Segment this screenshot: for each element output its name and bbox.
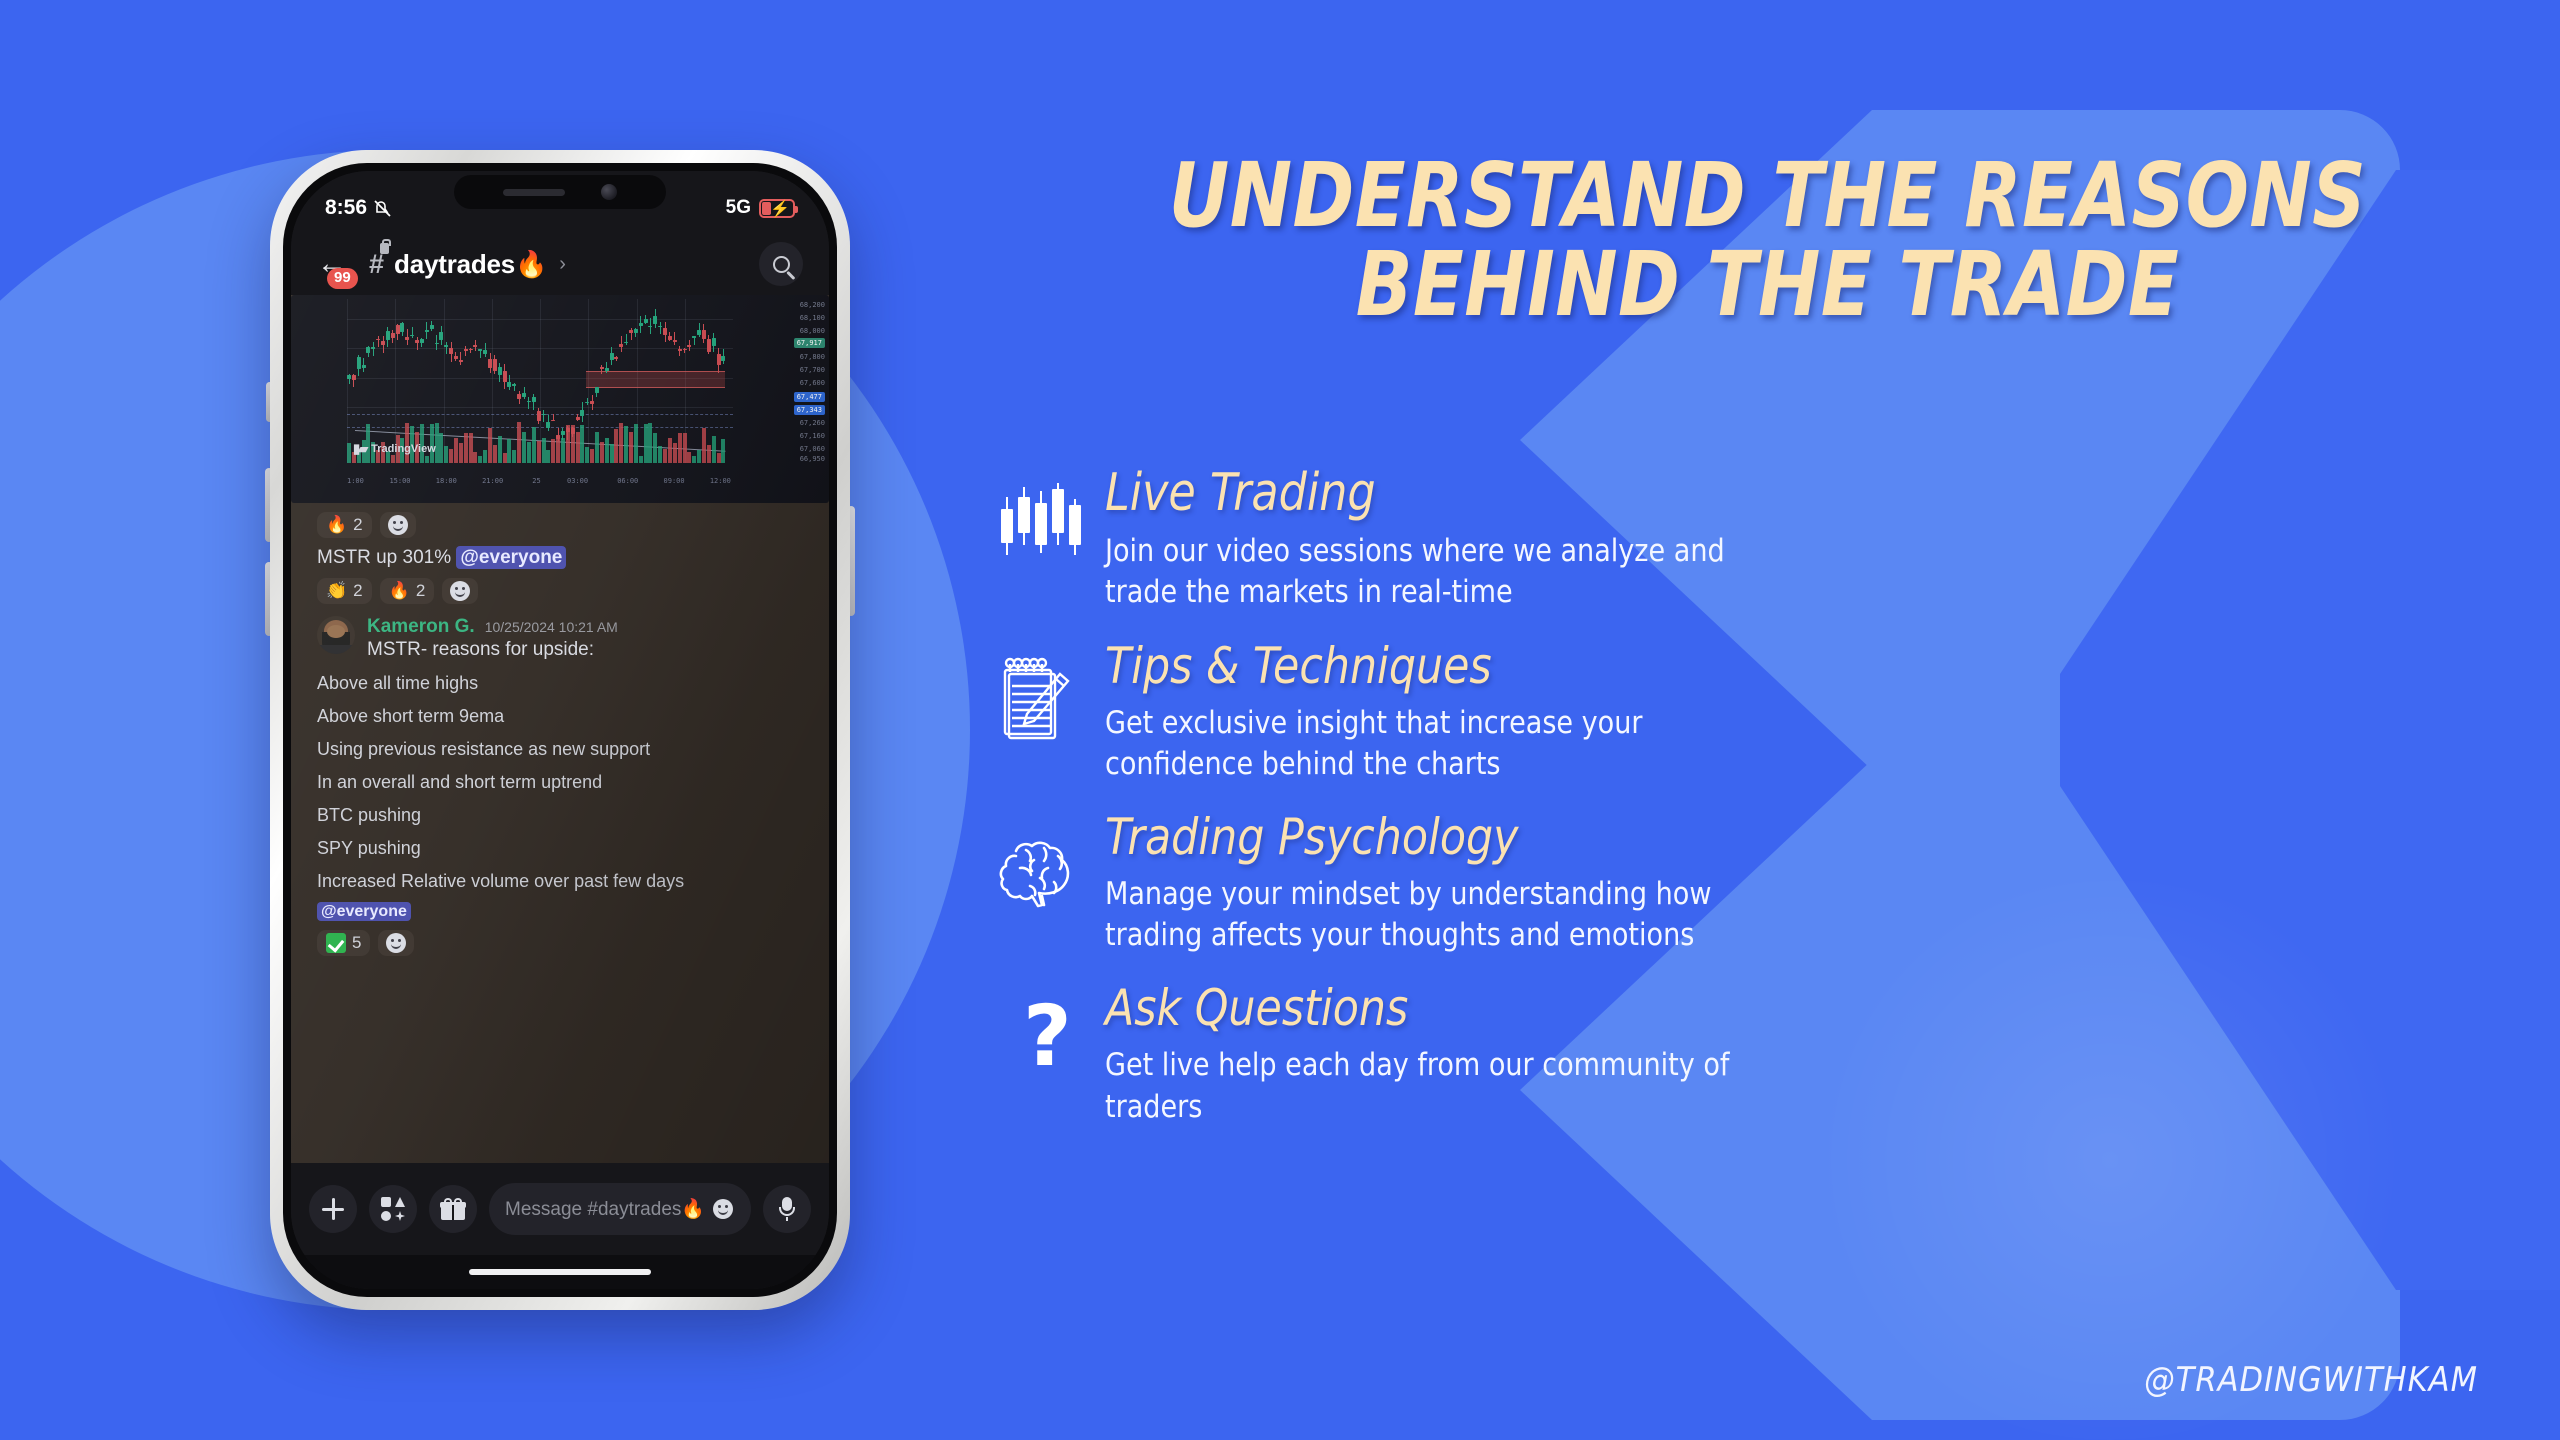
- chart-candle: [658, 322, 662, 334]
- chart-candle: [425, 322, 429, 339]
- chart-volume-bar: [678, 433, 682, 463]
- chart-volume-bar: [605, 438, 609, 463]
- status-time: 8:56: [325, 196, 367, 220]
- chart-volume-bar: [483, 450, 487, 463]
- chart-volume-bar: [590, 449, 594, 463]
- chart-volume-bar: [498, 436, 502, 463]
- chart-candle: [488, 353, 492, 372]
- reaction-row-top: 🔥 2: [291, 503, 829, 538]
- chart-candle: [697, 323, 701, 337]
- brain-icon: [987, 811, 1105, 921]
- message-composer: Message #daytrades🔥: [291, 1163, 829, 1255]
- list-item: SPY pushing: [291, 826, 829, 859]
- chart-price-tag-level-1: 67,477: [794, 392, 825, 402]
- reaction-count: 5: [352, 933, 361, 953]
- chart-candle: [493, 355, 497, 374]
- chart-volume-bar: [707, 445, 711, 463]
- phone-screen: 8:56 5G ⚡: [291, 171, 829, 1289]
- chart-candle: [381, 336, 385, 353]
- chart-volume-bar: [556, 438, 560, 463]
- chart-candle: [692, 336, 696, 345]
- chart-price-tag-level-2: 67,343: [794, 405, 825, 415]
- feature-item-live-trading: Live Trading Join our video sessions whe…: [987, 466, 2560, 614]
- message-body: MSTR- reasons for upside:: [367, 639, 803, 661]
- list-item: Using previous resistance as new support: [291, 727, 829, 760]
- chart-candle: [347, 374, 351, 385]
- feature-title: Ask Questions: [1105, 982, 1717, 1035]
- feature-item-tips-techniques: Tips & Techniques Get exclusive insight …: [987, 640, 2560, 785]
- search-button[interactable]: [759, 242, 803, 286]
- chart-candle: [668, 332, 672, 341]
- chart-candle: [439, 326, 443, 345]
- feature-description: Join our video sessions where we analyze…: [1105, 531, 1725, 613]
- svg-text:?: ?: [1023, 995, 1072, 1085]
- reaction-count: 2: [416, 581, 425, 601]
- chart-candle: [590, 395, 594, 410]
- feature-list: Live Trading Join our video sessions whe…: [975, 466, 2560, 1128]
- chart-volume-bar: [469, 433, 473, 463]
- chart-volume-bar: [585, 447, 589, 463]
- chart-candle: [391, 330, 395, 343]
- status-bar-left: 8:56: [325, 196, 393, 220]
- fire-emoji: 🔥: [389, 581, 410, 601]
- chat-messages[interactable]: 68,200 68,100 68,000 67,800 67,700 67,60…: [291, 295, 829, 1163]
- list-item: BTC pushing: [291, 793, 829, 826]
- feature-text: Live Trading Join our video sessions whe…: [1105, 466, 1744, 614]
- chart-candle: [653, 309, 657, 328]
- reaction-clap[interactable]: 👏 2: [317, 578, 372, 604]
- chart-volume-bar: [507, 439, 511, 463]
- chart-candle: [405, 329, 409, 345]
- chart-volume-bar: [478, 456, 482, 463]
- mention-row: @everyone: [291, 892, 829, 921]
- chart-volume-bar: [537, 441, 541, 463]
- avatar[interactable]: [317, 616, 355, 654]
- feature-title: Live Trading: [1105, 466, 1712, 521]
- chart-candle: [386, 327, 390, 347]
- add-reaction-icon: [450, 581, 470, 601]
- chart-candle: [687, 340, 691, 351]
- chart-volume-bar: [580, 425, 584, 463]
- status-bar-right: 5G ⚡: [726, 197, 795, 219]
- chart-candle: [580, 402, 584, 422]
- feature-text: Ask Questions Get live help each day fro…: [1105, 982, 1749, 1127]
- chart-candle: [639, 316, 643, 333]
- chart-candle: [473, 340, 477, 351]
- chart-candle: [678, 346, 682, 356]
- feature-title: Trading Psychology: [1105, 811, 1699, 864]
- chart-candle: [585, 398, 589, 405]
- message-timestamp: 10/25/2024 10:21 AM: [485, 619, 618, 635]
- status-network: 5G: [726, 197, 751, 219]
- add-reaction-icon: [386, 933, 406, 953]
- chart-volume-bar: [712, 436, 716, 463]
- list-item: In an overall and short term uptrend: [291, 760, 829, 793]
- feature-description: Get live help each day from our communit…: [1105, 1045, 1729, 1127]
- chart-candle: [717, 348, 721, 373]
- chart-volume-bar: [697, 450, 701, 463]
- chart-candle: [507, 375, 511, 390]
- chart-candle: [644, 315, 648, 324]
- chart-volume-bar: [692, 456, 696, 463]
- chart-volume-bar: [624, 426, 628, 463]
- page-title: UNDERSTAND THE REASONS BEHIND THE TRADE: [1030, 0, 2504, 418]
- chart-volume-bar: [663, 449, 667, 463]
- chart-candle: [449, 342, 453, 362]
- chart-volume-bar: [687, 452, 691, 463]
- chart-candle: [362, 358, 366, 372]
- chart-candle: [483, 343, 487, 357]
- chart-candle: [707, 335, 711, 354]
- candlestick-chart-icon: [987, 466, 1105, 576]
- message-input[interactable]: Message #daytrades🔥: [489, 1183, 751, 1235]
- plus-icon: [322, 1198, 344, 1220]
- home-indicator-area: [291, 1255, 829, 1289]
- reaction-row-bottom: 👏 2 🔥 2: [291, 569, 829, 604]
- chart-candle: [430, 321, 434, 330]
- chart-candle: [503, 364, 507, 389]
- chart-candle: [532, 394, 536, 410]
- question-mark-icon: ?: [987, 982, 1105, 1092]
- chart-candle: [366, 346, 370, 357]
- chart-volume-bar: [614, 429, 618, 463]
- tradingview-watermark: ▮▰ TradingView: [353, 441, 436, 457]
- mention-everyone[interactable]: @everyone: [456, 546, 566, 569]
- chart-price-axis: 68,200 68,100 68,000 67,800 67,700 67,60…: [735, 299, 827, 463]
- gift-button[interactable]: [429, 1185, 477, 1233]
- page-title-line2: BEHIND THE TRADE: [1030, 240, 2504, 329]
- message-text: MSTR up 301% @everyone: [291, 538, 829, 569]
- message-input-placeholder: Message #daytrades🔥: [505, 1197, 705, 1221]
- feature-item-ask-questions: ? Ask Questions Get live help each day f…: [987, 982, 2560, 1127]
- sticker-icon: [381, 1197, 405, 1221]
- chart-candle: [600, 365, 604, 374]
- unread-badge: 99: [327, 268, 358, 289]
- chart-volume-bar: [595, 432, 599, 463]
- phone-mockup: 8:56 5G ⚡: [270, 150, 850, 1310]
- chart-candle: [683, 348, 687, 353]
- chart-candle: [605, 362, 609, 372]
- microphone-icon: [779, 1197, 795, 1221]
- chevron-right-icon[interactable]: ›: [559, 253, 566, 276]
- chart-candle: [542, 410, 546, 422]
- list-item: Above short term 9ema: [291, 694, 829, 727]
- channel-name[interactable]: daytrades🔥: [394, 249, 547, 280]
- chart-supply-zone: [586, 371, 725, 387]
- chart-candle: [352, 374, 356, 386]
- chart-volume-bar: [648, 423, 652, 463]
- chart-candle: [376, 336, 380, 347]
- chart-candle: [357, 355, 361, 376]
- chart-volume-bar: [439, 433, 443, 463]
- channel-header: ← 99 # daytrades🔥 ›: [291, 233, 829, 295]
- chart-volume-bar: [551, 439, 555, 463]
- chart-volume-bar: [488, 428, 492, 463]
- fire-emoji: 🔥: [326, 515, 347, 535]
- tradingview-label: TradingView: [371, 443, 436, 455]
- chart-candle: [512, 383, 516, 392]
- chart-candle: [624, 334, 628, 345]
- message-header: Kameron G. 10/25/2024 10:21 AM: [367, 616, 803, 638]
- reaction-fire[interactable]: 🔥 2: [317, 512, 372, 538]
- chart-plot: [347, 299, 733, 463]
- search-icon: [773, 256, 790, 273]
- chart-candle: [469, 348, 473, 353]
- phone-bezel: 8:56 5G ⚡: [283, 163, 837, 1297]
- add-reaction-button[interactable]: [378, 930, 414, 956]
- chart-volume-bar: [668, 438, 672, 463]
- chart-volume-bar: [683, 433, 687, 463]
- message-group: Kameron G. 10/25/2024 10:21 AM MSTR- rea…: [291, 604, 829, 661]
- chart-volume-bar: [561, 438, 565, 463]
- chart-volume-bar: [653, 433, 657, 463]
- mention-everyone[interactable]: @everyone: [317, 902, 411, 921]
- tradingview-mark: ▮▰: [353, 441, 366, 457]
- chart-volume-bar: [493, 445, 497, 463]
- feature-text: Tips & Techniques Get exclusive insight …: [1105, 640, 1659, 785]
- chart-candle: [371, 342, 375, 355]
- chart-volume-bar: [347, 443, 351, 463]
- reaction-check[interactable]: 5: [317, 930, 370, 956]
- voice-message-button[interactable]: [763, 1185, 811, 1233]
- chart-candle: [410, 327, 414, 338]
- notch-area: 8:56 5G ⚡: [291, 171, 829, 233]
- green-check-icon: [326, 933, 346, 953]
- chart-candle: [619, 336, 623, 352]
- chart-volume-bar: [673, 443, 677, 463]
- bell-muted-icon: [373, 198, 393, 218]
- chart-volume-bar: [527, 442, 531, 463]
- chart-candle: [629, 328, 633, 341]
- chart-candle: [610, 347, 614, 365]
- chart-volume-bar: [459, 443, 463, 463]
- chart-volume-bar: [600, 442, 604, 463]
- chart-volume-bar: [619, 423, 623, 463]
- social-handle: @TRADINGWITHKAM: [2144, 1360, 2478, 1400]
- feature-text: Trading Psychology Manage your mindset b…: [1105, 811, 1730, 956]
- chart-candle: [396, 324, 400, 341]
- feature-title: Tips & Techniques: [1105, 640, 1631, 693]
- status-bar: 8:56 5G ⚡: [291, 191, 829, 225]
- chart-volume-bar: [449, 449, 453, 463]
- chart-candle: [454, 352, 458, 361]
- chart-candle: [721, 349, 725, 364]
- chart-candle: [595, 387, 599, 396]
- chart-candle: [537, 408, 541, 424]
- chart-volume-bar: [503, 453, 507, 463]
- chart-volume-bar: [546, 450, 550, 463]
- chart-time-axis: 1:0015:00 18:0021:00 2503:00 06:0009:00 …: [347, 477, 733, 489]
- add-attachment-button[interactable]: [309, 1185, 357, 1233]
- notepad-pencil-icon: [987, 640, 1105, 750]
- chart-candle: [614, 356, 618, 362]
- chart-candle: [648, 318, 652, 333]
- chart-volume-bar: [454, 438, 458, 463]
- chart-volume-bar: [512, 450, 516, 463]
- chart-candle: [498, 363, 502, 382]
- chart-volume-bar: [639, 456, 643, 463]
- chart-volume-bar: [532, 427, 536, 463]
- list-item: Above all time highs: [291, 661, 829, 694]
- reaction-count: 2: [353, 581, 362, 601]
- chart-volume-bar: [576, 432, 580, 463]
- battery-charging-icon: ⚡: [759, 199, 795, 218]
- chart-candle: [435, 335, 439, 350]
- chart-volume-bar: [571, 425, 575, 463]
- reaction-count: 2: [353, 515, 362, 535]
- message-content: Kameron G. 10/25/2024 10:21 AM MSTR- rea…: [367, 616, 803, 661]
- chart-volume-bar: [566, 425, 570, 463]
- chart-candle: [478, 349, 482, 358]
- chart-candle: [522, 387, 526, 398]
- chart-candle: [527, 397, 531, 409]
- chart-price-tag-current: 67,917: [794, 338, 825, 348]
- feature-description: Get exclusive insight that increase your…: [1105, 703, 1643, 785]
- list-item: Increased Relative volume over past few …: [291, 859, 829, 892]
- chart-candle: [546, 415, 550, 431]
- feature-description: Manage your mindset by understanding how…: [1105, 874, 1711, 956]
- add-reaction-button[interactable]: [380, 512, 416, 538]
- add-reaction-icon: [388, 515, 408, 535]
- content-column: UNDERSTAND THE REASONS BEHIND THE TRADE …: [975, 0, 2560, 1440]
- reaction-fire[interactable]: 🔥 2: [380, 578, 435, 604]
- chart-candle: [415, 337, 419, 350]
- chart-candle: [702, 324, 706, 343]
- chart-candle: [673, 332, 677, 345]
- chart-candle: [464, 346, 468, 356]
- chart-candle: [551, 414, 555, 421]
- chart-candle: [712, 333, 716, 352]
- chart-candle: [576, 414, 580, 421]
- chart-volume-bar: [464, 433, 468, 463]
- gift-icon: [441, 1198, 465, 1220]
- chart-candle: [517, 391, 521, 404]
- chart-volume-bar: [644, 424, 648, 463]
- chart-candle: [663, 322, 667, 342]
- chart-attachment[interactable]: 68,200 68,100 68,000 67,800 67,700 67,60…: [291, 295, 829, 503]
- sticker-button[interactable]: [369, 1185, 417, 1233]
- back-button[interactable]: ← 99: [317, 244, 357, 284]
- chart-volume-bar: [517, 422, 521, 463]
- chart-volume-bar: [658, 446, 662, 463]
- chart-volume-bar: [542, 438, 546, 463]
- reaction-row-message-2: 5: [291, 921, 829, 956]
- hash-lock-icon: #: [369, 249, 384, 280]
- chart-volume-bar: [473, 452, 477, 463]
- add-reaction-button[interactable]: [442, 578, 478, 604]
- chart-volume-bar: [522, 432, 526, 463]
- chart-candle: [400, 322, 404, 336]
- chart-volume-bar: [629, 432, 633, 463]
- chart-volume-bar: [634, 424, 638, 463]
- feature-item-trading-psychology: Trading Psychology Manage your mindset b…: [987, 811, 2560, 956]
- chart-volume-bar: [717, 453, 721, 463]
- clap-emoji: 👏: [326, 581, 347, 601]
- chart-candle: [420, 338, 424, 347]
- message-author[interactable]: Kameron G.: [367, 616, 475, 638]
- chart-volume-bar: [721, 439, 725, 463]
- home-indicator[interactable]: [469, 1269, 651, 1275]
- chart-volume-bar: [610, 444, 614, 463]
- chart-candle: [459, 352, 463, 365]
- phone-frame: 8:56 5G ⚡: [270, 150, 850, 1310]
- message-text-body: MSTR up 301%: [317, 547, 456, 568]
- chart-candle: [444, 342, 448, 354]
- chart-volume-bar: [444, 446, 448, 463]
- chart-candle: [634, 328, 638, 337]
- emoji-icon[interactable]: [713, 1199, 733, 1219]
- chart-volume-bar: [702, 428, 706, 463]
